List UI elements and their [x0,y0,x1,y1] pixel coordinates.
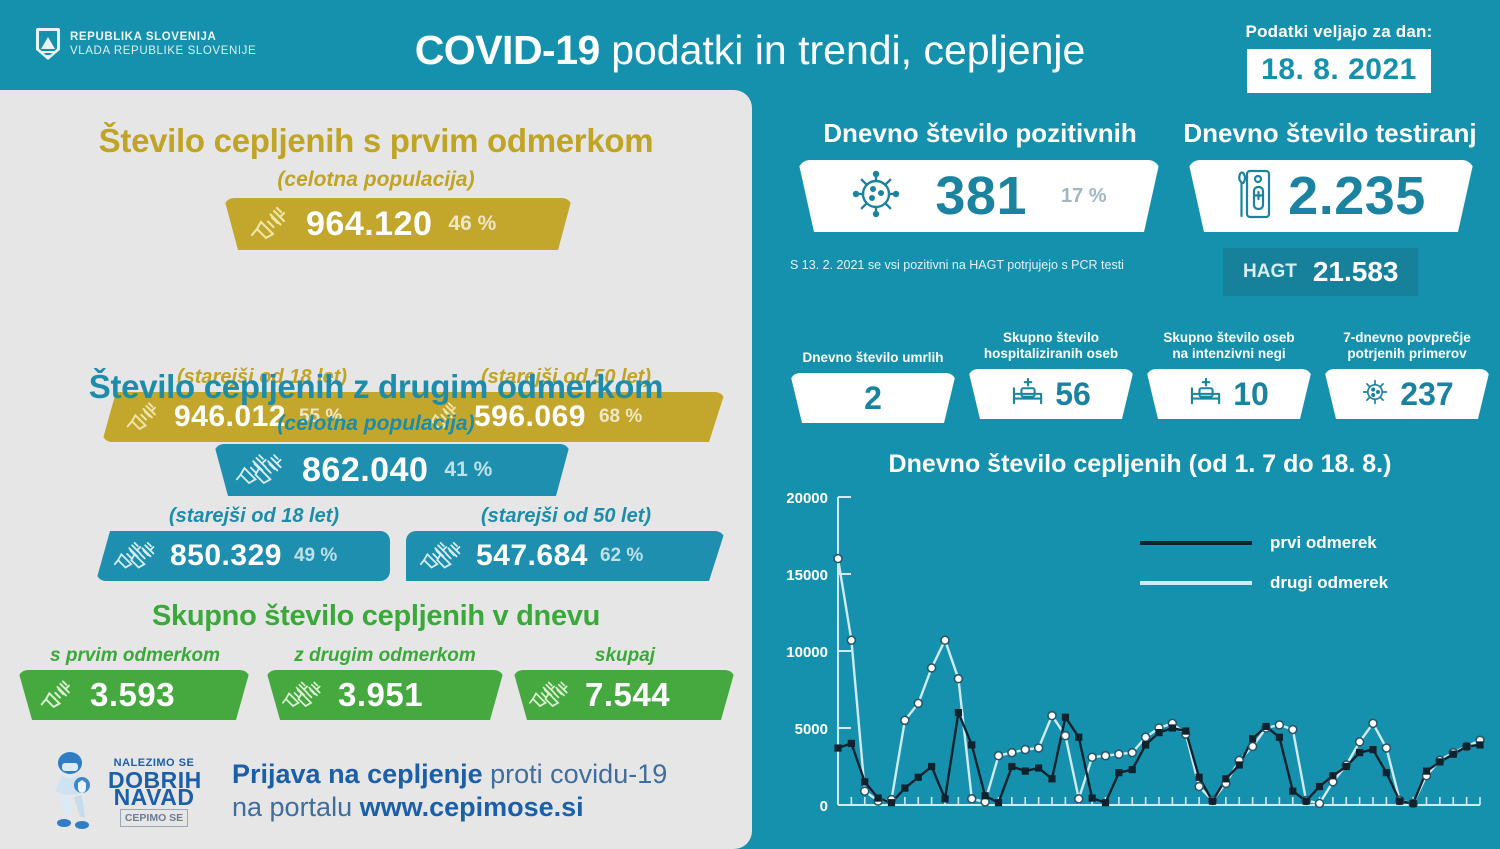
svg-text:10000: 10000 [786,644,828,661]
double-syringe-icon [420,539,466,573]
second-dose-title: Število cepljenih z drugim odmerkom [0,368,752,406]
daily-second-bar: 3.951 [266,670,504,720]
positives-note: S 13. 2. 2021 se vsi pozitivni na HAGT p… [790,258,1210,272]
second-dose-wholepop-label: (celotna populacija) [0,412,752,436]
virus-icon [1360,377,1390,412]
date-value: 18. 8. 2021 [1247,49,1431,93]
campaign-badge: NALEZIMO SE DOBRIH NAVAD CEPIMO SE [108,755,200,827]
second-dose-over18-label: (starejši od 18 let) [104,505,404,528]
svg-text:15000: 15000 [786,567,828,584]
campaign-badge-line3: NAVAD [108,789,200,806]
daily-sum-value: 7.544 [585,676,670,714]
campaign-badge-tag: CEPIMO SE [120,809,188,827]
second-dose-wholepop-pct: 41 % [444,458,492,482]
positives-value: 381 [935,165,1027,227]
syringe-icon [40,678,74,712]
daily-sum-bar: 7.544 [513,670,735,720]
stat-avg7: 7-dnevno povprečje potrjenih primerov 23… [1324,330,1490,423]
legend-label-first-dose: prvi odmerek [1270,533,1377,553]
second-dose-over18-bar: 850.329 49 % [96,531,390,581]
daily-first-bar: 3.593 [18,670,250,720]
positives-pct: 17 % [1061,185,1107,208]
stat-hospitalized-label-l2: hospitaliziranih oseb [968,346,1134,362]
stat-icu: Skupno število oseb na intenzivni negi 1… [1146,330,1312,423]
stat-avg7-value: 237 [1400,376,1453,413]
second-dose-over18-pct: 49 % [294,545,337,567]
campaign-url[interactable]: www.cepimose.si [360,792,584,822]
positives-box: 381 17 % [798,160,1160,232]
chart-legend: prvi odmerek drugi odmerek [1140,533,1388,593]
first-dose-title: Število cepljenih s prvim odmerkom [0,122,752,160]
legend-item-second: drugi odmerek [1140,573,1388,593]
stat-deaths-box: 2 [790,373,956,423]
rapid-test-icon [1236,168,1272,225]
hospital-bed-icon [1189,377,1223,412]
syringe-icon [250,205,290,243]
campaign-line1-bold: Prijava na cepljenje [232,759,483,789]
stat-icu-value: 10 [1233,376,1269,413]
date-block: Podatki veljajo za dan: 18. 8. 2021 [1214,22,1464,93]
double-syringe-icon [236,451,288,489]
daily-second-label: z drugim odmerkom [260,645,510,667]
date-label: Podatki veljajo za dan: [1214,22,1464,42]
svg-text:5000: 5000 [795,721,828,738]
svg-text:0: 0 [820,798,828,815]
first-dose-wholepop-bar: 964.120 46 % [224,198,572,250]
stat-hospitalized-value: 56 [1055,376,1091,413]
daily-second-value: 3.951 [338,676,423,714]
virus-icon [851,169,901,224]
campaign-mascot-icon [44,745,100,837]
stat-deaths-label: Dnevno število umrlih [790,330,956,366]
second-dose-wholepop-bar: 862.040 41 % [214,444,570,496]
stat-icu-label-l1: Skupno število oseb [1146,330,1312,346]
hospital-bed-icon [1011,377,1045,412]
chart-title: Dnevno število cepljenih (od 1. 7 do 18.… [790,450,1490,479]
legend-swatch-second-dose [1140,581,1252,585]
page-title-rest: podatki in trendi, cepljenje [600,27,1085,73]
second-dose-over18-value: 850.329 [170,539,282,573]
daily-first-label: s prvim odmerkom [10,645,260,667]
first-dose-wholepop-pct: 46 % [448,212,496,236]
svg-text:20000: 20000 [786,490,828,507]
stat-hospitalized-label-l1: Skupno število [968,330,1134,346]
stat-icu-box: 10 [1146,369,1312,419]
first-dose-wholepop-label: (celotna populacija) [0,168,752,192]
page-header: REPUBLIKA SLOVENIJA VLADA REPUBLIKE SLOV… [0,0,1500,90]
second-dose-over50-value: 547.684 [476,539,588,573]
page-title-bold: COVID-19 [415,27,600,73]
stat-deaths: Dnevno število umrlih 2 [790,330,956,423]
campaign-text: Prijava na cepljenje proti covidu-19 na … [232,758,667,824]
legend-item-first: prvi odmerek [1140,533,1388,553]
legend-label-second-dose: drugi odmerek [1270,573,1388,593]
double-syringe-icon [529,678,573,712]
hagt-box: HAGT 21.583 [1223,248,1418,296]
positives-title: Dnevno število pozitivnih [790,118,1170,149]
tests-box: 2.235 [1188,160,1474,232]
daily-total-title: Skupno število cepljenih v dnevu [0,600,752,633]
campaign-line1-rest: proti covidu-19 [483,759,668,789]
legend-swatch-first-dose [1140,541,1252,545]
hagt-value: 21.583 [1313,256,1399,288]
second-dose-over50-label: (starejši od 50 let) [416,505,716,528]
daily-first-value: 3.593 [90,676,175,714]
tests-title: Dnevno število testiranj [1180,118,1480,149]
stat-deaths-value: 2 [864,380,882,417]
stat-icu-label-l2: na intenzivni negi [1146,346,1312,362]
campaign-line2-rest: na portalu [232,792,360,822]
vaccination-panel: Število cepljenih s prvim odmerkom (celo… [0,90,752,849]
double-syringe-icon [282,678,326,712]
infographic-root: REPUBLIKA SLOVENIJA VLADA REPUBLIKE SLOV… [0,0,1500,849]
stat-hospitalized: Skupno število hospitaliziranih oseb 56 [968,330,1134,423]
second-dose-over50-pct: 62 % [600,545,643,567]
first-dose-wholepop-value: 964.120 [306,205,432,244]
campaign-block: NALEZIMO SE DOBRIH NAVAD CEPIMO SE Prija… [44,745,667,837]
stat-avg7-box: 237 [1324,369,1490,419]
double-syringe-icon [114,539,160,573]
second-dose-wholepop-value: 862.040 [302,451,428,490]
stat-avg7-label-l2: potrjenih primerov [1324,346,1490,362]
stats-row: Dnevno število umrlih 2 Skupno število h… [790,330,1490,423]
second-dose-over50-bar: 547.684 62 % [406,531,725,581]
daily-sum-label: skupaj [515,645,735,667]
tests-value: 2.235 [1288,165,1426,227]
hagt-label: HAGT [1243,261,1297,283]
stat-avg7-label-l1: 7-dnevno povprečje [1324,330,1490,346]
stat-hospitalized-box: 56 [968,369,1134,419]
